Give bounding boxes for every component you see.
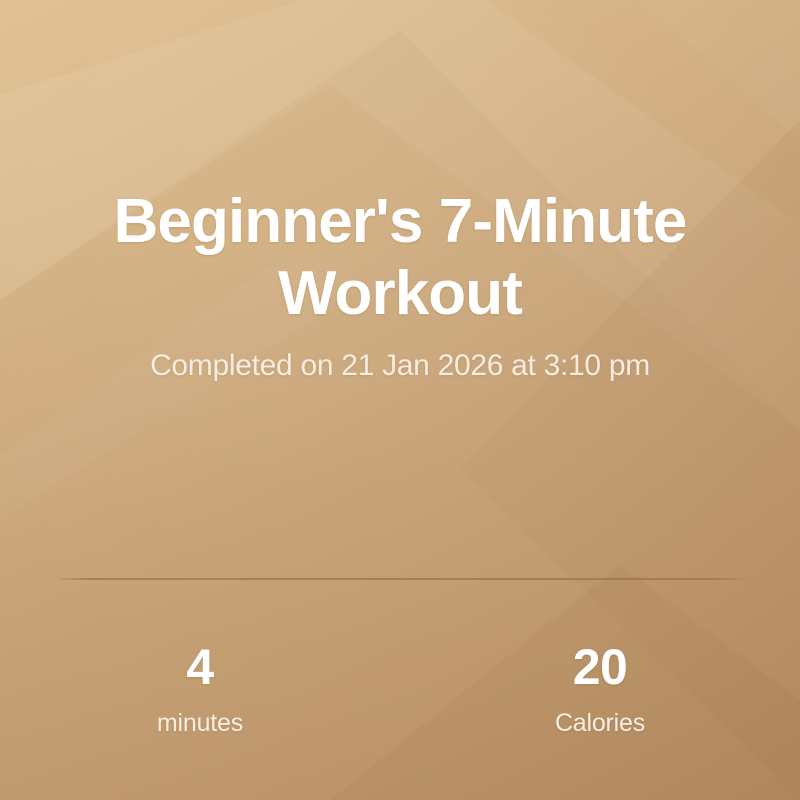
workout-summary-card: Beginner's 7-Minute Workout Completed on… (0, 0, 800, 800)
card-content: Beginner's 7-Minute Workout Completed on… (0, 0, 800, 800)
stat-value-calories: 20 (400, 640, 800, 694)
stat-minutes: 4 minutes (0, 640, 400, 738)
stat-label-minutes: minutes (0, 694, 400, 738)
completed-timestamp: Completed on 21 Jan 2026 at 3:10 pm (60, 330, 740, 384)
header-block: Beginner's 7-Minute Workout Completed on… (0, 186, 800, 384)
workout-title: Beginner's 7-Minute Workout (60, 186, 740, 330)
section-divider (58, 578, 742, 580)
stat-value-minutes: 4 (0, 640, 400, 694)
stat-label-calories: Calories (400, 694, 800, 738)
stats-row: 4 minutes 20 Calories (0, 640, 800, 738)
stat-calories: 20 Calories (400, 640, 800, 738)
